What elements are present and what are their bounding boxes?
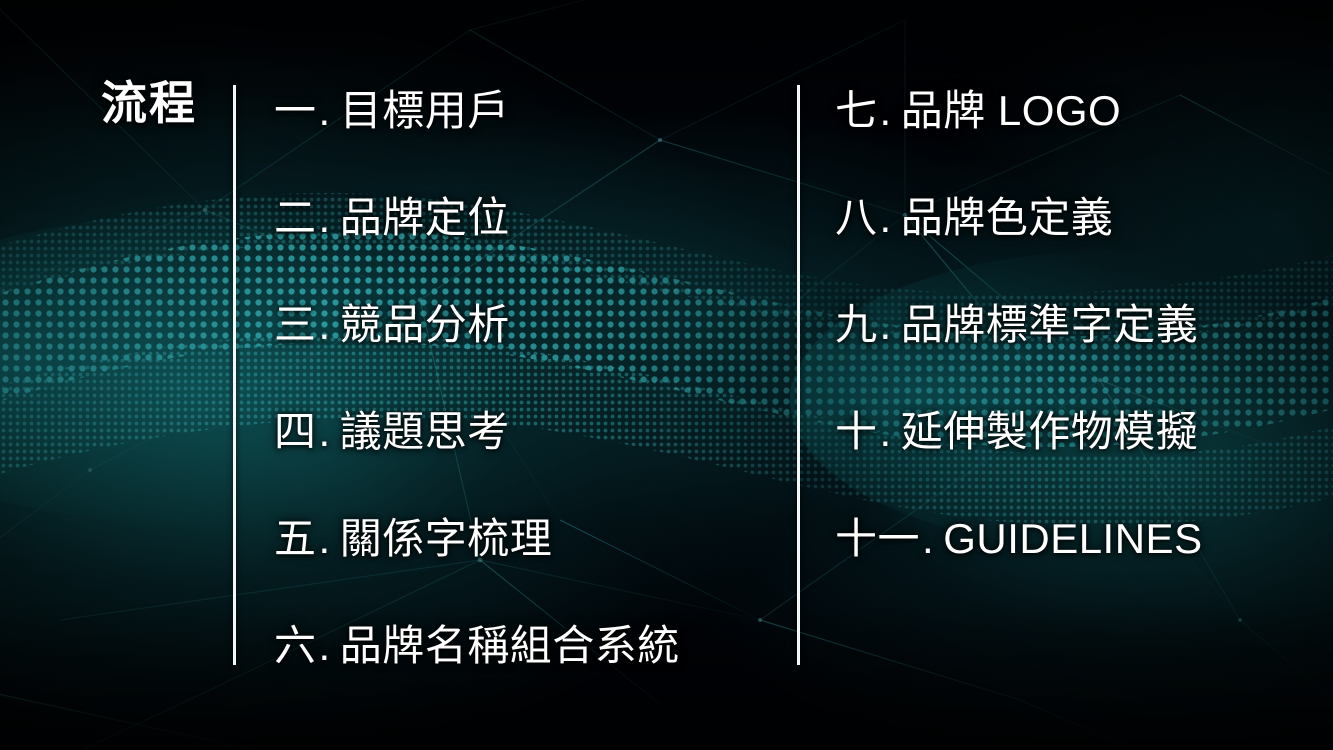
agenda-item-separator: . xyxy=(319,87,331,134)
agenda-item-label: 品牌標準字定義 xyxy=(901,301,1199,348)
agenda-item-separator: . xyxy=(880,301,892,348)
agenda-item-number: 二 xyxy=(274,194,317,241)
agenda-item: 六.品牌名稱組合系統 xyxy=(274,625,680,667)
agenda-item-label: 目標用戶 xyxy=(340,87,510,134)
agenda-item-label: 競品分析 xyxy=(340,301,510,348)
agenda-item-separator: . xyxy=(880,87,892,134)
divider-left xyxy=(233,85,236,665)
agenda-item-separator: . xyxy=(319,301,331,348)
agenda-item-number: 五 xyxy=(274,515,317,562)
presentation-slide: 流程 一.目標用戶二.品牌定位三.競品分析四.議題思考五.關係字梳理六.品牌名稱… xyxy=(0,0,1333,750)
agenda-item-label: 延伸製作物模擬 xyxy=(901,408,1199,455)
agenda-item-number: 四 xyxy=(274,408,317,455)
agenda-item-number: 一 xyxy=(274,87,317,134)
agenda-item-number: 八 xyxy=(835,194,878,241)
agenda-item-separator: . xyxy=(319,408,331,455)
agenda-item-number: 三 xyxy=(274,301,317,348)
agenda-item-separator: . xyxy=(880,408,892,455)
agenda-item-number: 六 xyxy=(274,622,317,669)
agenda-item: 八.品牌色定義 xyxy=(835,197,1113,239)
agenda-item-label: 議題思考 xyxy=(340,408,510,455)
agenda-item: 十一.GUIDELINES xyxy=(835,518,1203,560)
agenda-item-label: GUIDELINES xyxy=(943,515,1202,562)
agenda-item-number: 十 xyxy=(835,408,878,455)
agenda-item: 十.延伸製作物模擬 xyxy=(835,411,1198,453)
page-title: 流程 xyxy=(101,80,197,126)
agenda-item-separator: . xyxy=(922,515,934,562)
agenda-item-label: 品牌名稱組合系統 xyxy=(340,622,680,669)
agenda-item-number: 七 xyxy=(835,87,878,134)
agenda-item: 九.品牌標準字定義 xyxy=(835,304,1198,346)
agenda-item-label: 關係字梳理 xyxy=(340,515,553,562)
agenda-item: 三.競品分析 xyxy=(274,304,510,346)
agenda-item: 四.議題思考 xyxy=(274,411,510,453)
agenda-item-label: 品牌色定義 xyxy=(901,194,1114,241)
agenda-item: 二.品牌定位 xyxy=(274,197,510,239)
agenda-item: 一.目標用戶 xyxy=(274,90,510,132)
agenda-item-separator: . xyxy=(319,515,331,562)
agenda-item-label: 品牌 LOGO xyxy=(901,87,1122,134)
agenda-item-number: 十一 xyxy=(835,515,920,562)
agenda-item: 七.品牌 LOGO xyxy=(835,90,1121,132)
agenda-item-label: 品牌定位 xyxy=(340,194,510,241)
agenda-item: 五.關係字梳理 xyxy=(274,518,552,560)
agenda-item-separator: . xyxy=(880,194,892,241)
agenda-item-separator: . xyxy=(319,194,331,241)
agenda-item-number: 九 xyxy=(835,301,878,348)
agenda-item-separator: . xyxy=(319,622,331,669)
divider-right xyxy=(797,85,800,665)
